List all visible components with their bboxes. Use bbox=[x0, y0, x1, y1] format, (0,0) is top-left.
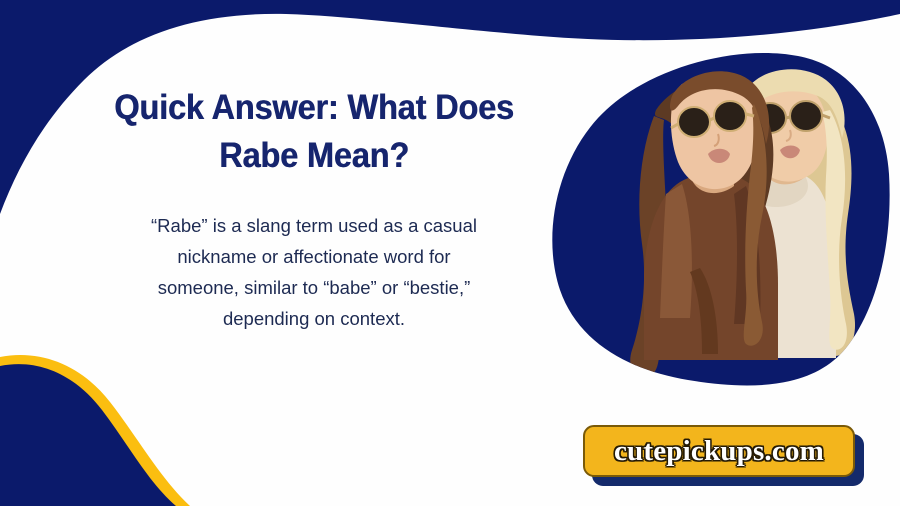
body-line-1: “Rabe” is a slang term used as a casual bbox=[58, 210, 570, 241]
headline-line-2: Rabe Mean? bbox=[76, 132, 552, 180]
infographic-canvas: Quick Answer: What Does Rabe Mean? “Rabe… bbox=[0, 0, 900, 506]
body-line-3: someone, similar to “babe” or “bestie,” bbox=[58, 272, 570, 303]
logo-badge-face[interactable]: cutepickups.com bbox=[583, 425, 855, 477]
logo-text: cutepickups.com bbox=[614, 435, 824, 468]
site-logo-badge[interactable]: cutepickups.com bbox=[583, 425, 855, 477]
yellow-outline-bottom-left bbox=[0, 355, 190, 506]
navy-blob-bottom-left bbox=[0, 364, 176, 506]
body-copy: “Rabe” is a slang term used as a casual … bbox=[58, 210, 570, 334]
figures-group bbox=[630, 69, 855, 377]
headline-line-1: Quick Answer: What Does bbox=[76, 84, 552, 132]
illustration-container bbox=[540, 18, 900, 418]
body-line-4: depending on context. bbox=[58, 303, 570, 334]
page-title: Quick Answer: What Does Rabe Mean? bbox=[76, 84, 552, 180]
body-line-2: nickname or affectionate word for bbox=[58, 241, 570, 272]
text-column: Quick Answer: What Does Rabe Mean? “Rabe… bbox=[58, 84, 570, 334]
two-women-sunglasses-illustration bbox=[540, 18, 900, 418]
